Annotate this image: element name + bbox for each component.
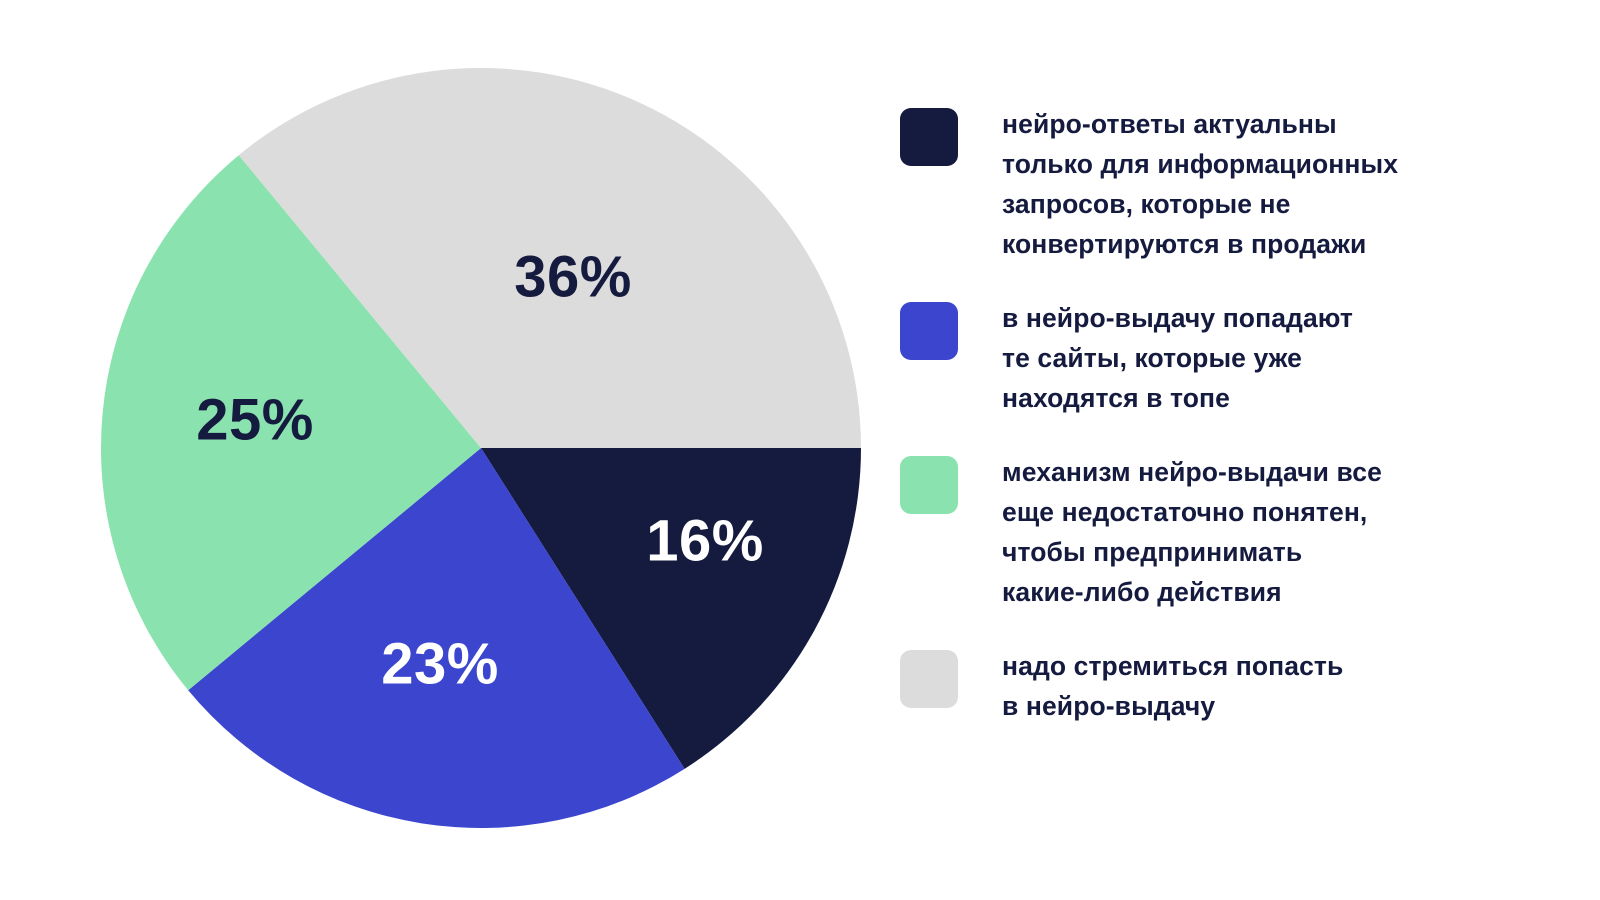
legend-item-label: нейро-ответы актуальны только для информ… xyxy=(1002,104,1398,264)
legend-item[interactable]: механизм нейро-выдачи все еще недостаточ… xyxy=(900,452,1560,612)
legend-color-swatch xyxy=(900,456,958,514)
pie-chart-plot-area: 16%23%25%36% xyxy=(0,0,900,900)
legend-color-swatch xyxy=(900,108,958,166)
pie-slice-value-label: 16% xyxy=(646,508,764,573)
chart-legend: нейро-ответы актуальны только для информ… xyxy=(900,104,1560,760)
legend-item[interactable]: надо стремиться попасть в нейро-выдачу xyxy=(900,646,1560,726)
legend-color-swatch xyxy=(900,650,958,708)
pie-slice-value-label: 23% xyxy=(381,631,499,696)
legend-item-label: надо стремиться попасть в нейро-выдачу xyxy=(1002,646,1343,726)
pie-slice-value-label: 36% xyxy=(514,244,632,309)
legend-item-label: механизм нейро-выдачи все еще недостаточ… xyxy=(1002,452,1382,612)
legend-item[interactable]: в нейро-выдачу попадают те сайты, которы… xyxy=(900,298,1560,418)
pie-chart-figure: 16%23%25%36% нейро-ответы актуальны толь… xyxy=(0,0,1600,900)
legend-color-swatch xyxy=(900,302,958,360)
pie-slice-value-label: 25% xyxy=(196,387,314,452)
legend-item[interactable]: нейро-ответы актуальны только для информ… xyxy=(900,104,1560,264)
legend-item-label: в нейро-выдачу попадают те сайты, которы… xyxy=(1002,298,1353,418)
pie-chart-svg: 16%23%25%36% xyxy=(0,0,900,900)
